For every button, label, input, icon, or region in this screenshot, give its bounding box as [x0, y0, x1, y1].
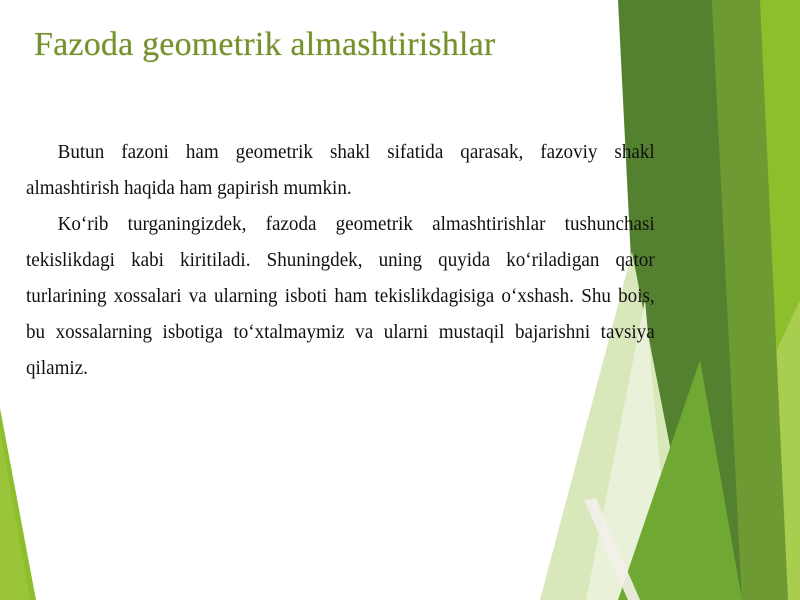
slide-content: Fazoda geometrik almashtirishlar Butun f…	[0, 0, 800, 600]
body-text-block: Butun fazoni ham geometrik shakl sifatid…	[26, 134, 654, 386]
paragraph-1: Butun fazoni ham geometrik shakl sifatid…	[26, 134, 655, 206]
page-title: Fazoda geometrik almashtirishlar	[34, 24, 495, 66]
paragraph-2: Koʻrib turganingizdek, fazoda geometrik …	[26, 206, 655, 386]
slide: Fazoda geometrik almashtirishlar Butun f…	[0, 0, 800, 600]
